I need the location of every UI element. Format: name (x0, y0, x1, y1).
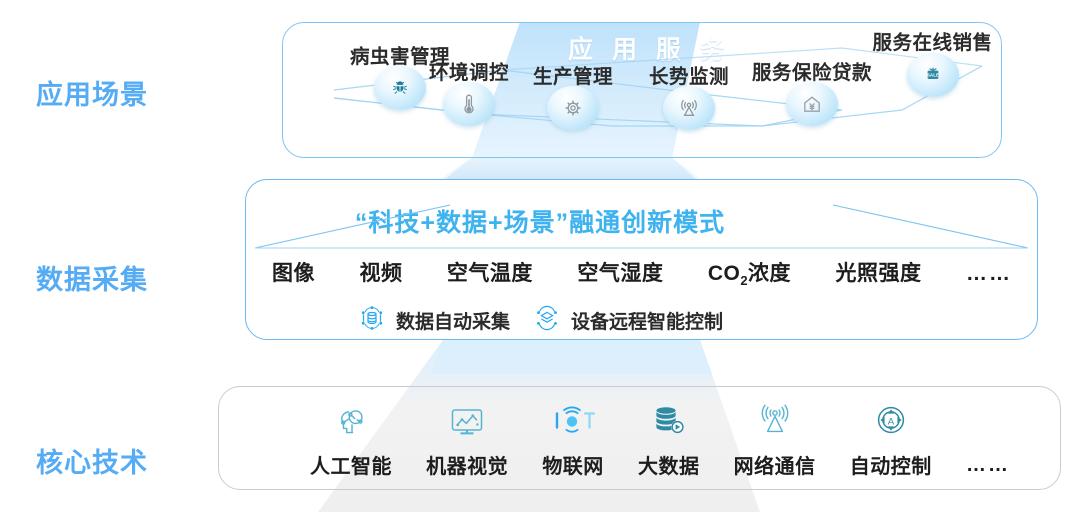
data-item: 光照强度 (836, 257, 922, 287)
data-item: 空气湿度 (577, 257, 663, 287)
bug-icon (374, 66, 426, 110)
technology-item-iot[interactable]: 物联网 (542, 398, 604, 479)
technology-item-label: 网络通信 (734, 450, 816, 479)
section-label-technology: 核心技术 (36, 441, 148, 480)
application-node-label: 生产管理 (533, 60, 613, 89)
data-feature-list: 数据自动采集 设备远程智能控制 (0, 303, 1080, 338)
data-item-list: 图像 视频 空气温度 空气湿度 CO2浓度 光照强度 …… (272, 257, 1012, 288)
house-yen-icon (786, 82, 838, 126)
auto-control-icon: A (869, 398, 913, 446)
gear-icon (547, 86, 599, 130)
technology-item-label: 大数据 (638, 450, 700, 479)
infographic-canvas: 应用场景 数据采集 核心技术 应 用 服 务 病虫害管理 环境调控 (0, 0, 1080, 512)
network-antenna-icon (752, 398, 798, 446)
data-item-co2: CO2浓度 (708, 257, 791, 288)
sale-tag-icon: SALE (907, 53, 959, 97)
data-ellipsis: …… (966, 262, 1012, 286)
big-data-icon (647, 398, 691, 446)
svg-text:A: A (888, 416, 895, 427)
technology-item-label: 自动控制 (850, 450, 932, 479)
technology-item-list: 人工智能 机器视觉 (310, 398, 1010, 479)
data-feature-remote-control[interactable]: 设备远程智能控制 (532, 303, 723, 338)
technology-item-big-data[interactable]: 大数据 (638, 398, 700, 479)
technology-item-auto-control[interactable]: A 自动控制 (850, 398, 932, 479)
section-label-data: 数据采集 (36, 258, 148, 297)
technology-item-label: 人工智能 (310, 450, 392, 479)
data-feature-auto-collection[interactable]: 数据自动采集 (357, 303, 510, 338)
ai-head-icon (330, 398, 372, 446)
technology-item-ai[interactable]: 人工智能 (310, 398, 392, 479)
technology-item-label: 物联网 (542, 450, 604, 479)
layers-node-icon (532, 303, 562, 338)
signal-tower-icon (663, 86, 715, 130)
data-item: 视频 (359, 257, 402, 287)
iot-icon (549, 398, 597, 446)
svg-text:SALE: SALE (926, 72, 938, 77)
application-node-label: 服务在线销售 (872, 26, 992, 55)
database-node-icon (357, 303, 387, 338)
machine-vision-icon (445, 398, 489, 446)
application-node-label: 服务保险贷款 (752, 56, 872, 85)
technology-ellipsis: …… (966, 454, 1010, 479)
section-label-application: 应用场景 (36, 73, 148, 112)
data-item: 空气温度 (447, 257, 533, 287)
data-item: 图像 (272, 257, 315, 287)
thermometer-icon (443, 82, 495, 126)
technology-item-machine-vision[interactable]: 机器视觉 (426, 398, 508, 479)
data-feature-label: 设备远程智能控制 (571, 307, 723, 334)
application-node-label: 环境调控 (429, 56, 509, 85)
application-node-label: 长势监测 (649, 60, 729, 89)
technology-item-network[interactable]: 网络通信 (734, 398, 816, 479)
technology-item-label: 机器视觉 (426, 450, 508, 479)
data-feature-label: 数据自动采集 (396, 307, 510, 334)
